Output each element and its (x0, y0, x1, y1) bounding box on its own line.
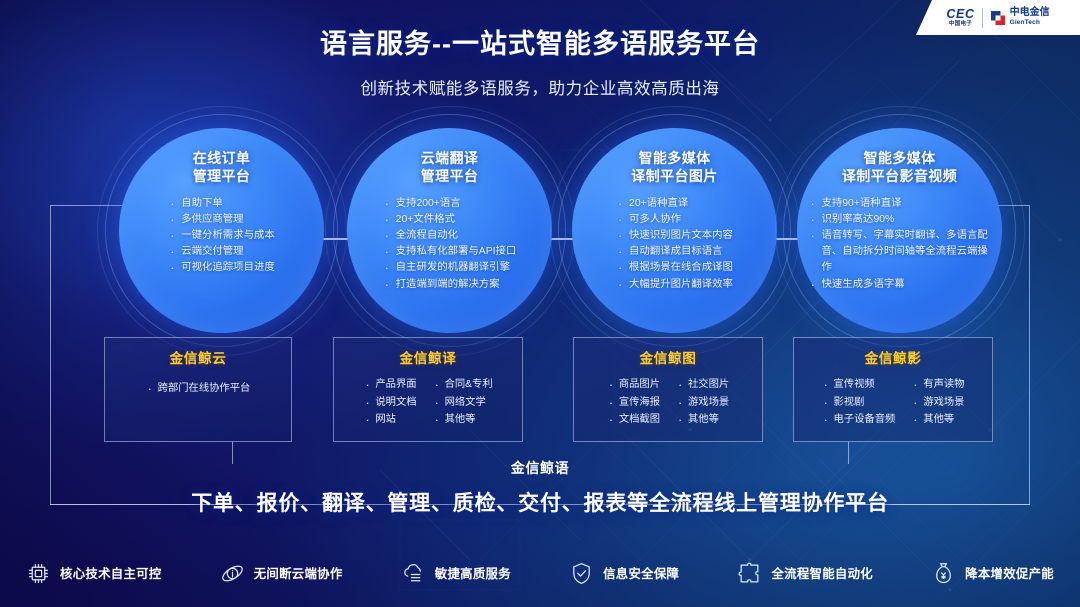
product-box-column-1: 宣传视频 影视剧 电子设备音频 (822, 376, 896, 429)
logo-divider (982, 8, 983, 28)
circle-title: 在线订单 管理平台 (193, 149, 251, 186)
product-box-jingyun[interactable]: 金信鲸云 跨部门在线协作平台 (104, 337, 292, 442)
circle-feature-list: 支持200+语言 20+文件格式 全流程自动化 支持私有化部署与API接口 自主… (375, 196, 525, 293)
circle-feature-list: 支持90+语种直译 识别率高达90% 语音转写、字幕实时翻译、多语言配音、自动拆… (801, 196, 999, 293)
list-item: 网络文学 (433, 394, 493, 412)
footer-item-label: 敏捷高质服务 (435, 564, 511, 582)
platform-circle-multimedia-video[interactable]: 智能多媒体 译制平台影音视频 支持90+语种直译 识别率高达90% 语音转写、字… (797, 128, 1002, 333)
list-item: 自动翻译成目标语言 (616, 244, 733, 260)
circle-title: 云端翻译 管理平台 (421, 149, 479, 186)
list-item: 宣传海报 (607, 394, 660, 412)
page-subtitle: 创新技术赋能多语服务，助力企业高效高质出海 (0, 75, 1080, 99)
footer-item-cost-efficiency[interactable]: 降本增效促产能 (931, 561, 1054, 586)
product-box-title: 金信鲸译 (400, 347, 457, 367)
circle-feature-list: 自助下单 多供应商管理 一键分析需求与成本 云端交付管理 可视化追踪项目进度 (160, 196, 283, 277)
gientech-english-text: GienTech (1010, 20, 1050, 27)
footer-item-label: 降本增效促产能 (965, 564, 1054, 582)
footer-item-label: 信息安全保障 (603, 564, 679, 582)
list-item: 说明文档 (363, 394, 416, 412)
circle-title: 智能多媒体 译制平台图片 (631, 149, 717, 186)
footer-benefits-bar: 核心技术自主可控 无间断云端协作 敏捷高质服务 信息安全保 (0, 539, 1080, 607)
list-item: 识别率高达90% (809, 212, 991, 228)
list-item: 支持200+语言 (383, 196, 517, 212)
platform-banner: 金信鲸语 下单、报价、翻译、管理、质检、交付、报表等全流程线上管理协作平台 (0, 458, 1080, 517)
list-item: 一键分析需求与成本 (168, 228, 275, 244)
list-item: 产品界面 (363, 376, 416, 394)
shield-check-icon (569, 561, 594, 586)
list-item: 支持90+语种直译 (809, 196, 991, 212)
corporate-logo-banner: CEC 中国电子 中电金信 GienTech (916, 0, 1080, 35)
product-box-column-2: 合同&专利 网络文学 其他等 (433, 376, 493, 429)
list-item: 可视化追踪项目进度 (168, 260, 275, 276)
platform-circle-cloud-translation[interactable]: 云端翻译 管理平台 支持200+语言 20+文件格式 全流程自动化 支持私有化部… (347, 128, 552, 333)
circle-title-line1: 智能多媒体 (842, 149, 957, 167)
product-box-column-2: 有声读物 游戏场景 其他等 (911, 376, 964, 429)
product-box-column-1: 产品界面 说明文档 网站 (363, 376, 416, 429)
gientech-chinese-text: 中电金信 (1010, 8, 1050, 18)
list-item: 电子设备音频 (822, 411, 896, 429)
list-item: 打造端到端的解决方案 (383, 277, 517, 293)
atom-info-icon (220, 561, 245, 586)
list-item: 商品图片 (607, 376, 660, 394)
product-box-body: 宣传视频 影视剧 电子设备音频 有声读物 游戏场景 其他等 (822, 376, 965, 429)
circle-title: 智能多媒体 译制平台影音视频 (842, 149, 957, 186)
footer-item-label: 无间断云端协作 (254, 564, 343, 582)
list-item: 全流程自动化 (383, 228, 517, 244)
list-item: 宣传视频 (822, 376, 896, 394)
footer-item-label: 核心技术自主可控 (60, 564, 162, 582)
list-item: 快速生成多语字幕 (809, 277, 991, 293)
list-item: 合同&专利 (433, 376, 493, 394)
chip-icon (26, 561, 51, 586)
platform-circle-multimedia-image[interactable]: 智能多媒体 译制平台图片 20+语种直译 可多人协作 快速识别图片文本内容 自动… (572, 128, 777, 333)
gientech-text: 中电金信 GienTech (1010, 8, 1050, 26)
list-item: 影视剧 (822, 394, 896, 412)
list-item: 自助下单 (168, 196, 275, 212)
list-item: 20+语种直译 (616, 196, 733, 212)
list-item: 大幅提升图片翻译效率 (616, 277, 733, 293)
product-box-jingying[interactable]: 金信鲸影 宣传视频 影视剧 电子设备音频 有声读物 游戏场景 其他等 (793, 337, 993, 442)
list-item: 文档截图 (607, 411, 660, 429)
footer-item-cloud-collab[interactable]: 无间断云端协作 (220, 561, 343, 586)
list-item: 可多人协作 (616, 212, 733, 228)
gientech-mark-icon (990, 10, 1006, 26)
product-box-title: 金信鲸图 (640, 347, 697, 367)
list-item: 跨部门在线协作平台 (146, 380, 251, 398)
list-item: 多供应商管理 (168, 212, 275, 228)
page-title: 语言服务--一站式智能多语服务平台 (0, 22, 1080, 61)
circle-title-line1: 智能多媒体 (631, 149, 717, 167)
list-item: 其他等 (911, 411, 964, 429)
circle-title-line2: 译制平台图片 (631, 167, 717, 185)
cec-logo: CEC 中国电子 (946, 8, 974, 28)
footer-item-automation[interactable]: 全流程智能自动化 (737, 561, 873, 586)
list-item: 游戏场景 (911, 394, 964, 412)
list-item: 支持私有化部署与API接口 (383, 244, 517, 260)
gientech-logo: 中电金信 GienTech (990, 8, 1050, 26)
list-item: 社交图片 (676, 376, 729, 394)
footer-item-label: 全流程智能自动化 (771, 564, 873, 582)
circle-title-line2: 管理平台 (193, 167, 251, 185)
puzzle-icon (737, 561, 762, 586)
cec-abbr-text: CEC (946, 8, 974, 21)
product-box-column-1: 商品图片 宣传海报 文档截图 (607, 376, 660, 429)
circle-title-line2: 译制平台影音视频 (842, 167, 957, 185)
product-box-title: 金信鲸云 (170, 347, 227, 367)
slide-canvas: CEC 中国电子 中电金信 GienTech 语言服务--一站式智能多语服务平台… (0, 0, 1080, 607)
circle-feature-list: 20+语种直译 可多人协作 快速识别图片文本内容 自动翻译成目标语言 根据场景在… (608, 196, 741, 293)
banner-main-text: 下单、报价、翻译、管理、质检、交付、报表等全流程线上管理协作平台 (0, 487, 1080, 517)
banner-subtitle: 金信鲸语 (0, 458, 1080, 478)
product-box-body: 商品图片 宣传海报 文档截图 社交图片 游戏场景 其他等 (607, 376, 729, 429)
platform-circle-row: 在线订单 管理平台 自助下单 多供应商管理 一键分析需求与成本 云端交付管理 可… (0, 128, 1080, 338)
product-box-body: 产品界面 说明文档 网站 合同&专利 网络文学 其他等 (363, 376, 492, 429)
list-item: 云端交付管理 (168, 244, 275, 260)
circle-title-line2: 管理平台 (421, 167, 479, 185)
footer-item-core-tech[interactable]: 核心技术自主可控 (26, 561, 162, 586)
list-item: 根据场景在线合成译图 (616, 260, 733, 276)
list-item: 20+文件格式 (383, 212, 517, 228)
product-box-body: 跨部门在线协作平台 (146, 380, 251, 398)
list-item: 其他等 (676, 411, 729, 429)
footer-item-security[interactable]: 信息安全保障 (569, 561, 679, 586)
circle-title-line1: 云端翻译 (421, 149, 479, 167)
list-item: 网站 (363, 411, 416, 429)
product-box-jingyi[interactable]: 金信鲸译 产品界面 说明文档 网站 合同&专利 网络文学 其他等 (333, 337, 523, 442)
cec-chinese-text: 中国电子 (949, 22, 972, 28)
cloud-icon (401, 561, 426, 586)
product-box-title: 金信鲸影 (865, 347, 922, 367)
platform-circle-online-order[interactable]: 在线订单 管理平台 自助下单 多供应商管理 一键分析需求与成本 云端交付管理 可… (119, 128, 324, 333)
list-item: 有声读物 (911, 376, 964, 394)
product-box-jingtu[interactable]: 金信鲸图 商品图片 宣传海报 文档截图 社交图片 游戏场景 其他等 (573, 337, 763, 442)
list-item: 自主研发的机器翻译引擎 (383, 260, 517, 276)
list-item: 快速识别图片文本内容 (616, 228, 733, 244)
product-box-column-1: 跨部门在线协作平台 (146, 380, 251, 398)
product-box-column-2: 社交图片 游戏场景 其他等 (676, 376, 729, 429)
list-item: 语音转写、字幕实时翻译、多语言配音、自动拆分时间轴等全流程云端操作 (809, 228, 991, 276)
circle-title-line1: 在线订单 (193, 149, 251, 167)
list-item: 其他等 (433, 411, 493, 429)
footer-item-agile-service[interactable]: 敏捷高质服务 (401, 561, 511, 586)
list-item: 游戏场景 (676, 394, 729, 412)
money-bag-icon (931, 561, 956, 586)
